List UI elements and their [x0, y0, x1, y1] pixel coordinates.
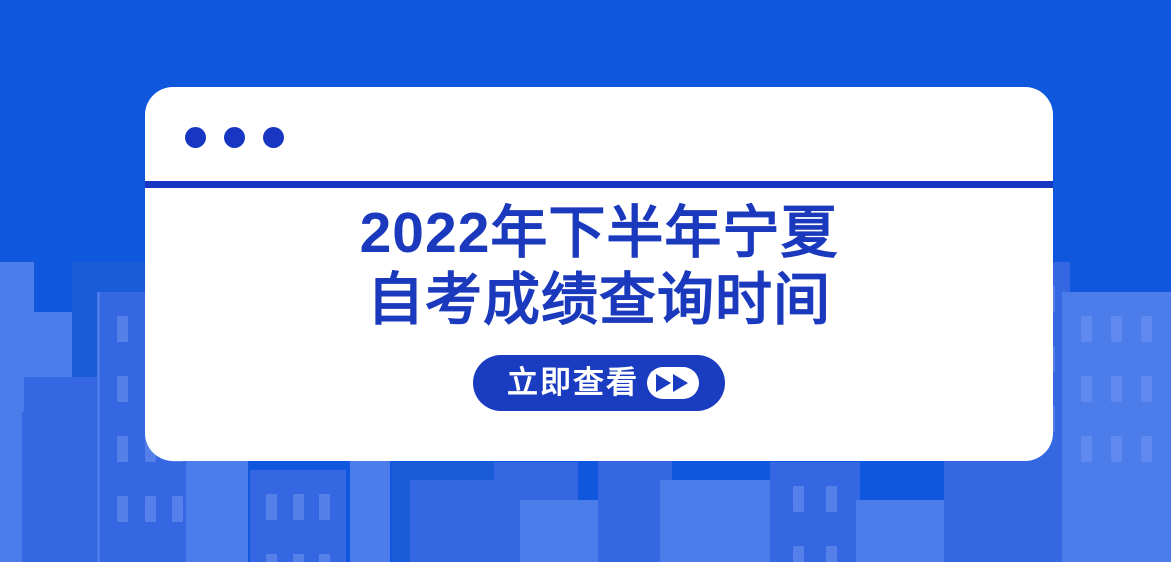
- building-window: [793, 546, 804, 562]
- building-window: [1081, 316, 1092, 342]
- building: [520, 500, 600, 562]
- building-window: [266, 554, 277, 562]
- browser-card: 2022年下半年宁夏 自考成绩查询时间 立即查看: [145, 87, 1053, 461]
- building: [186, 444, 248, 562]
- building-window: [117, 436, 128, 462]
- building-window: [117, 496, 128, 522]
- building-window: [266, 494, 277, 520]
- building-window: [117, 376, 128, 402]
- window-dot-1[interactable]: [185, 127, 206, 148]
- building-window: [293, 554, 304, 562]
- building-window: [1081, 436, 1092, 462]
- building-window: [1111, 316, 1122, 342]
- view-now-label: 立即查看: [507, 367, 639, 398]
- building: [1062, 292, 1171, 562]
- building-window: [826, 486, 837, 512]
- window-dot-3[interactable]: [263, 127, 284, 148]
- title-line-1: 2022年下半年宁夏: [360, 200, 839, 267]
- building-window: [1111, 376, 1122, 402]
- building-window: [172, 496, 183, 522]
- card-content: 2022年下半年宁夏 自考成绩查询时间 立即查看: [145, 188, 1053, 461]
- building-window: [793, 486, 804, 512]
- building-window: [1141, 316, 1152, 342]
- card-divider: [145, 181, 1053, 188]
- building: [770, 462, 860, 562]
- fast-forward-icon: [647, 367, 699, 399]
- building-window: [319, 554, 330, 562]
- building: [410, 480, 502, 562]
- window-dot-2[interactable]: [224, 127, 245, 148]
- building-window: [319, 494, 330, 520]
- building-window: [1081, 376, 1092, 402]
- building-window: [145, 496, 156, 522]
- building-window: [117, 316, 128, 342]
- building-window: [1141, 376, 1152, 402]
- view-now-button[interactable]: 立即查看: [473, 355, 725, 411]
- poster-canvas: 2022年下半年宁夏 自考成绩查询时间 立即查看: [0, 0, 1171, 562]
- building-window: [1141, 436, 1152, 462]
- building: [250, 470, 346, 562]
- building-window: [293, 494, 304, 520]
- page-title: 2022年下半年宁夏 自考成绩查询时间: [360, 188, 839, 335]
- building: [350, 444, 390, 562]
- building-window: [1111, 436, 1122, 462]
- title-line-2: 自考成绩查询时间: [360, 267, 839, 334]
- building-window: [826, 546, 837, 562]
- building: [660, 480, 780, 562]
- window-dots: [185, 127, 284, 148]
